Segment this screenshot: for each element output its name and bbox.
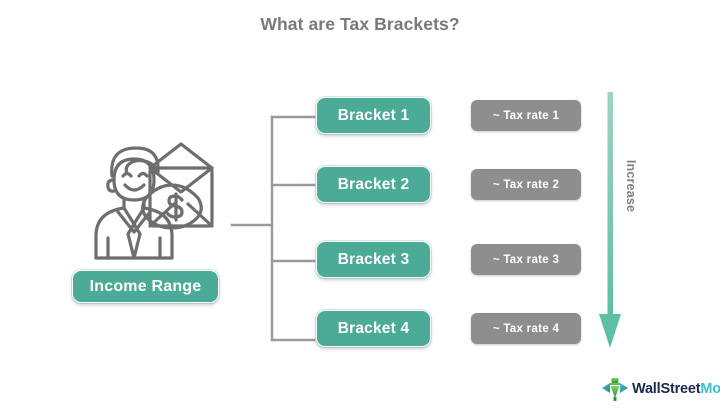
income-range-label: Income Range [72, 270, 219, 303]
tax-rate-pill: ~ Tax rate 2 [471, 169, 581, 200]
wallstreetmojo-logo: WallStreetMojo [602, 376, 720, 402]
infographic-canvas: What are Tax Brackets? [0, 0, 720, 409]
logo-wordmark: WallStreetMojo [632, 381, 720, 397]
tax-rate-pill: ~ Tax rate 1 [471, 100, 581, 131]
increase-label: Increase [622, 156, 638, 216]
tax-rate-pill: ~ Tax rate 3 [471, 244, 581, 275]
tax-rate-pill: ~ Tax rate 4 [471, 313, 581, 344]
bracket-box: Bracket 1 [316, 97, 431, 134]
page-title: What are Tax Brackets? [0, 14, 720, 35]
bracket-box: Bracket 2 [316, 166, 431, 203]
bracket-box: Bracket 3 [316, 241, 431, 278]
down-arrow-icon [592, 92, 632, 354]
bracket-box: Bracket 4 [316, 310, 431, 347]
businessman-with-money-envelope-icon [78, 136, 218, 264]
logo-text-accent: Mojo [700, 381, 720, 397]
logo-text-primary: WallStreet [632, 381, 700, 397]
wallstreetmojo-logo-icon [602, 377, 628, 401]
